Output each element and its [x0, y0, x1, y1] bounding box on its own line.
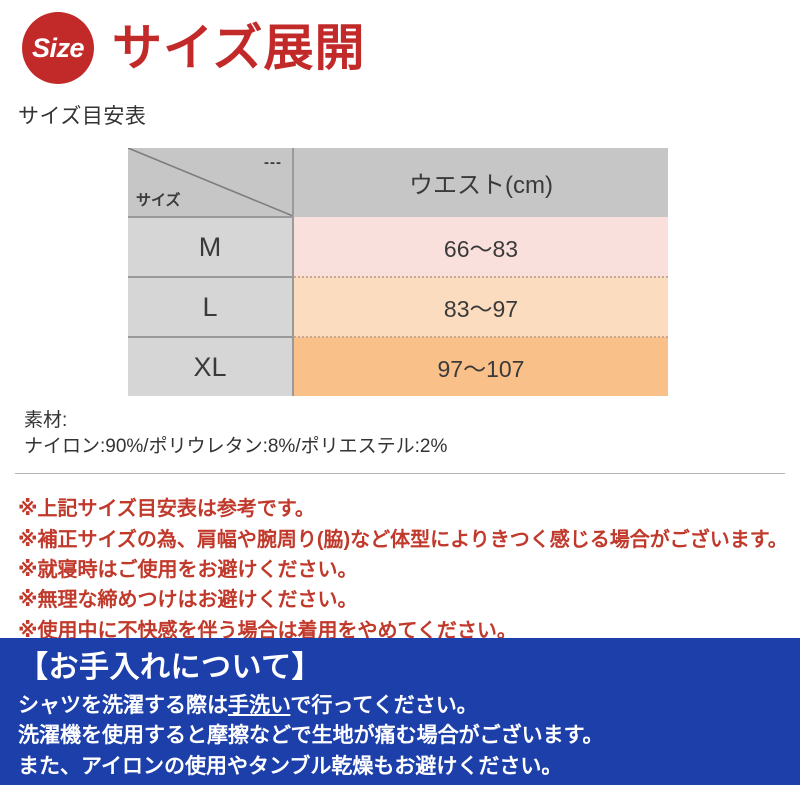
material-composition: ナイロン:90%/ポリウレタン:8%/ポリエステル:2% — [24, 434, 800, 460]
care-title: 【お手入れについて】 — [18, 648, 800, 687]
row-size-label: XL — [128, 337, 293, 396]
care-line-1-pre: シャツを洗濯する際は — [18, 694, 228, 717]
size-badge-label: Size — [32, 33, 84, 64]
table-header-waist: ウエスト(cm) — [293, 148, 668, 217]
care-line-3: また、アイロンの使用やタンブル乾燥もお避けください。 — [18, 752, 800, 782]
page-header: Size サイズ展開 — [0, 0, 800, 74]
size-table-wrapper: --- サイズ ウエスト(cm) M 66〜83 L 83〜97 XL 97〜1… — [128, 148, 668, 396]
table-corner-bottom-label: サイズ — [136, 189, 181, 210]
page-title: サイズ展開 — [112, 23, 366, 73]
care-line-1-post: で行ってください。 — [290, 694, 477, 717]
row-waist-value: 83〜97 — [293, 277, 668, 337]
caution-item: ※無理な締めつけはお避けください。 — [18, 585, 800, 615]
row-waist-value: 66〜83 — [293, 217, 668, 277]
care-instructions-banner: 【お手入れについて】 シャツを洗濯する際は手洗いで行ってください。 洗濯機を使用… — [0, 638, 800, 785]
table-corner-cell: --- サイズ — [128, 148, 293, 217]
caution-item: ※就寝時はご使用をお避けください。 — [18, 555, 800, 585]
care-text-block: シャツを洗濯する際は手洗いで行ってください。 洗濯機を使用すると摩擦などで生地が… — [18, 691, 800, 782]
table-row: L 83〜97 — [128, 277, 668, 337]
caution-list: ※上記サイズ目安表は参考です。 ※補正サイズの為、肩幅や腕周り(脇)など体型によ… — [18, 494, 800, 646]
table-header-row: --- サイズ ウエスト(cm) — [128, 148, 668, 217]
section-subtitle: サイズ目安表 — [18, 100, 800, 130]
size-chart-table: --- サイズ ウエスト(cm) M 66〜83 L 83〜97 XL 97〜1… — [128, 148, 668, 396]
material-label: 素材: — [24, 408, 800, 434]
table-corner-top-label: --- — [264, 154, 282, 171]
caution-item: ※上記サイズ目安表は参考です。 — [18, 494, 800, 524]
size-badge-icon: Size — [22, 12, 94, 84]
table-row: M 66〜83 — [128, 217, 668, 277]
row-size-label: L — [128, 277, 293, 337]
row-size-label: M — [128, 217, 293, 277]
material-block: 素材: ナイロン:90%/ポリウレタン:8%/ポリエステル:2% — [24, 408, 800, 459]
care-hand-wash-emphasis: 手洗い — [228, 694, 290, 717]
caution-item: ※補正サイズの為、肩幅や腕周り(脇)など体型によりきつく感じる場合がございます。 — [18, 525, 800, 555]
table-row: XL 97〜107 — [128, 337, 668, 396]
care-line-2: 洗濯機を使用すると摩擦などで生地が痛む場合がございます。 — [18, 721, 800, 751]
care-line-1: シャツを洗濯する際は手洗いで行ってください。 — [18, 691, 800, 721]
row-waist-value: 97〜107 — [293, 337, 668, 396]
section-divider — [15, 473, 785, 474]
